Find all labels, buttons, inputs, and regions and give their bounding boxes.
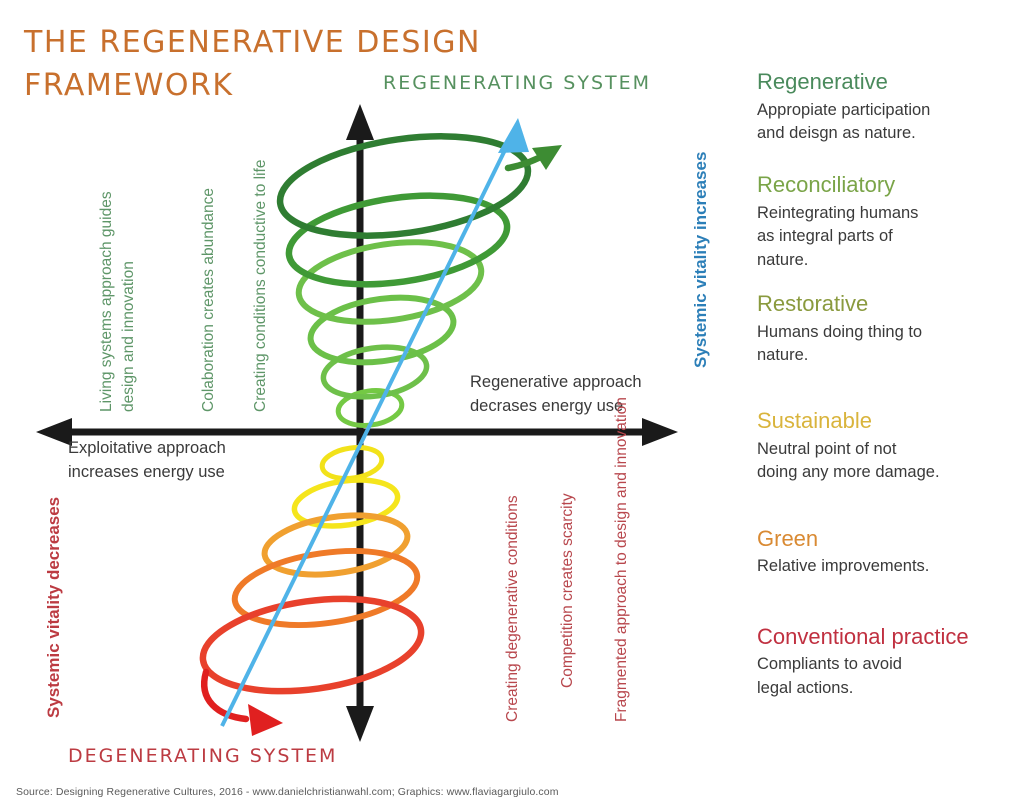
legend-desc-reconciliatory-line-2: as integral parts of <box>757 225 1007 248</box>
red-label-1-line-1: Competition creates scarcity <box>559 493 576 688</box>
regenerative-caption-line-2: decrases energy use <box>470 395 710 419</box>
red-label-fragmented-approach: Fragmented approach to design and innova… <box>611 397 633 722</box>
legend-desc-restorative-line-1: Humans doing thing to <box>757 321 1007 344</box>
legend-desc-sustainable: Neutral point of not doing any more dama… <box>757 438 1007 485</box>
regenerative-approach-caption: Regenerative approach decrases energy us… <box>470 371 710 419</box>
green-label-colaboration: Colaboration creates abundance <box>198 188 220 412</box>
diagram-canvas: THE REGENERATIVE DESIGN FRAMEWORK <box>0 0 1024 810</box>
legend-heading-sustainable: Sustainable <box>757 407 1007 435</box>
legend-desc-green-line-1: Relative improvements. <box>757 555 1007 578</box>
green-label-living-systems: Living systems approach guides design an… <box>96 191 140 412</box>
legend-desc-reconciliatory: Reintegrating humans as integral parts o… <box>757 202 1007 272</box>
legend-desc-conventional-practice-line-2: legal actions. <box>757 677 1007 700</box>
legend-heading-regenerative: Regenerative <box>757 68 1007 96</box>
legend-heading-reconciliatory: Reconciliatory <box>757 171 1007 199</box>
legend-desc-regenerative-line-1: Appropiate participation <box>757 99 1007 122</box>
exploitative-approach-caption: Exploitative approach increases energy u… <box>68 437 298 485</box>
legend-desc-conventional-practice-line-1: Compliants to avoid <box>757 653 1007 676</box>
legend-desc-regenerative-line-2: and deisgn as nature. <box>757 122 1007 145</box>
legend-desc-reconciliatory-line-3: nature. <box>757 249 1007 272</box>
red-label-2-line-2: and innovation <box>613 397 630 498</box>
green-label-creating-conditions: Creating conditions conductive to life <box>250 160 272 412</box>
legend-heading-green: Green <box>757 525 1007 553</box>
green-label-0-line-1: Living systems approach guides <box>98 191 115 412</box>
legend-desc-restorative-line-2: nature. <box>757 344 1007 367</box>
exploitative-caption-line-1: Exploitative approach <box>68 437 298 461</box>
legend-desc-green: Relative improvements. <box>757 555 1007 578</box>
legend-desc-sustainable-line-1: Neutral point of not <box>757 438 1007 461</box>
legend-item-green: Green Relative improvements. <box>757 525 1007 579</box>
legend-desc-regenerative: Appropiate participation and deisgn as n… <box>757 99 1007 146</box>
legend-item-regenerative: Regenerative Appropiate participation an… <box>757 68 1007 145</box>
legend-heading-conventional-practice: Conventional practice <box>757 623 1007 651</box>
legend-item-conventional-practice: Conventional practice Compliants to avoi… <box>757 623 1007 700</box>
legend-item-restorative: Restorative Humans doing thing to nature… <box>757 290 1007 367</box>
green-label-1-line-1: Colaboration creates abundance <box>200 188 217 412</box>
legend-desc-conventional-practice: Compliants to avoid legal actions. <box>757 653 1007 700</box>
red-label-degenerative-conditions: Creating degenerative conditions <box>502 495 524 722</box>
legend-item-reconciliatory: Reconciliatory Reintegrating humans as i… <box>757 171 1007 272</box>
green-label-0-line-2: design and innovation <box>118 191 140 412</box>
exploitative-caption-line-2: increases energy use <box>68 461 298 485</box>
red-label-2-line-1: Fragmented approach to design <box>613 502 630 722</box>
legend-desc-sustainable-line-2: doing any more damage. <box>757 461 1007 484</box>
degenerating-system-label: DEGENERATING SYSTEM <box>68 745 337 767</box>
legend-panel: Regenerative Appropiate participation an… <box>757 68 1007 718</box>
legend-desc-restorative: Humans doing thing to nature. <box>757 321 1007 368</box>
degenerating-spiral <box>197 444 427 719</box>
regenerative-caption-line-1: Regenerative approach <box>470 371 710 395</box>
legend-heading-restorative: Restorative <box>757 290 1007 318</box>
red-outward-arrowhead <box>248 704 283 736</box>
legend-desc-reconciliatory-line-1: Reintegrating humans <box>757 202 1007 225</box>
green-label-2-line-1: Creating conditions conductive to life <box>252 160 269 412</box>
red-label-0-line-1: Creating degenerative conditions <box>504 495 521 722</box>
systemic-vitality-increases-label: Systemic vitality increases <box>691 152 711 368</box>
red-label-competition-scarcity: Competition creates scarcity <box>557 493 579 688</box>
systemic-vitality-decreases-label: Systemic vitality decreases <box>44 497 64 718</box>
source-attribution: Source: Designing Regenerative Cultures,… <box>16 786 559 798</box>
regenerating-system-label: REGENERATING SYSTEM <box>383 72 651 94</box>
legend-item-sustainable: Sustainable Neutral point of not doing a… <box>757 407 1007 484</box>
